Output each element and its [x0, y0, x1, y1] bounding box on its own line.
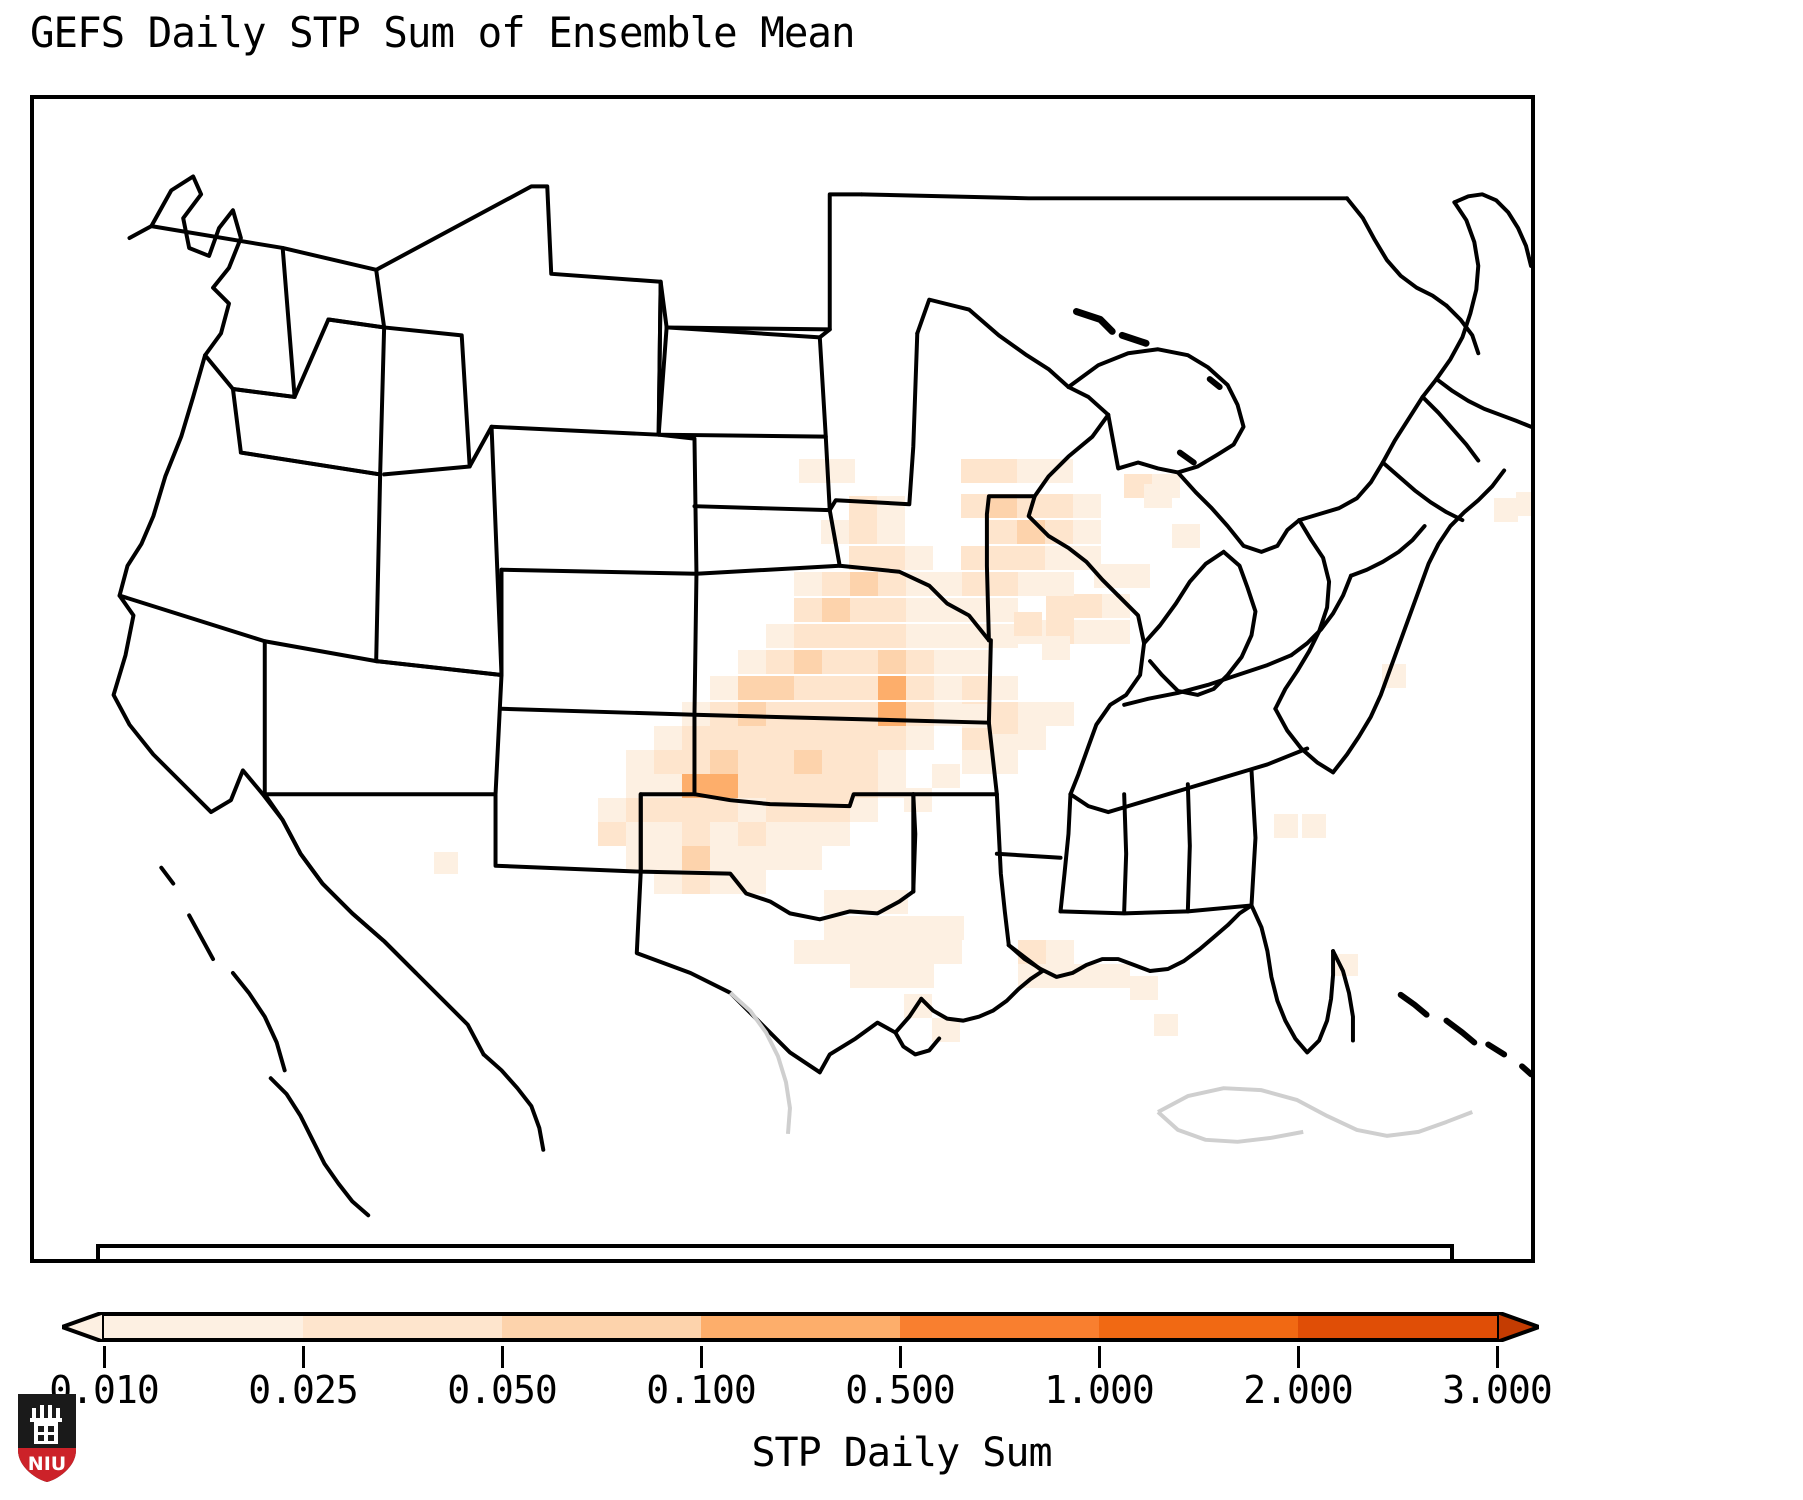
colorbar-band-6 [1298, 1316, 1497, 1338]
colorbar-under-arrow [62, 1312, 104, 1342]
niu-logo-text: NIU [28, 1453, 66, 1475]
colorbar-band-5 [1099, 1316, 1298, 1338]
valid-time-line: Valid: 2026-02-21 12:00 UTC to 2026-02-2… [114, 1254, 1436, 1263]
map-plot-area: Valid: 2026-02-21 12:00 UTC to 2026-02-2… [30, 95, 1535, 1263]
colorbar-tick-2 [501, 1346, 504, 1368]
colorbar-tick-label-1: 0.025 [248, 1368, 357, 1412]
colorbar-tick-6 [1297, 1346, 1300, 1368]
colorbar-tick-label-3: 0.100 [646, 1368, 755, 1412]
colorbar-tick-1 [302, 1346, 305, 1368]
colorbar-band-2 [502, 1316, 701, 1338]
colorbar-tick-label-6: 2.000 [1243, 1368, 1352, 1412]
colorbar-axis-label: STP Daily Sum [0, 1430, 1803, 1476]
colorbar-tick-5 [1098, 1346, 1101, 1368]
colorbar-over-arrow [1497, 1312, 1539, 1342]
colorbar-tick-7 [1496, 1346, 1499, 1368]
colorbar-tick-4 [899, 1346, 902, 1368]
colorbar-tick-label-2: 0.050 [447, 1368, 556, 1412]
niu-logo: NIU [16, 1392, 78, 1484]
colorbar-band-0 [104, 1316, 303, 1338]
colorbar-band-1 [303, 1316, 502, 1338]
colorbar-tick-label-4: 0.500 [845, 1368, 954, 1412]
colorbar-band-3 [701, 1316, 900, 1338]
colorbar-tick-label-5: 1.000 [1044, 1368, 1153, 1412]
colorbar-bands [104, 1312, 1497, 1342]
colorbar-band-4 [900, 1316, 1099, 1338]
us-state-boundaries-svg [34, 99, 1531, 1259]
forecast-info-box: Valid: 2026-02-21 12:00 UTC to 2026-02-2… [96, 1244, 1454, 1263]
basemap-layer [34, 99, 1531, 1259]
page-title: GEFS Daily STP Sum of Ensemble Mean [30, 8, 855, 57]
colorbar[interactable]: 0.0100.0250.0500.1000.5001.0002.0003.000 [62, 1308, 1540, 1348]
colorbar-tick-3 [700, 1346, 703, 1368]
colorbar-tick-0 [103, 1346, 106, 1368]
colorbar-tick-label-7: 3.000 [1442, 1368, 1551, 1412]
